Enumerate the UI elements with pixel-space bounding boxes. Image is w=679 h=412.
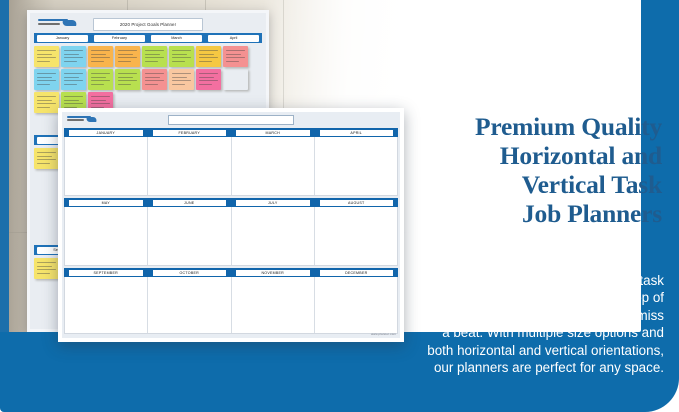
planner-cell[interactable] (315, 207, 397, 265)
planner-month-label: FEBRUARY (148, 130, 232, 136)
planner-month-label: JANUARY (64, 130, 148, 136)
sticky-note (34, 92, 59, 113)
planner-month-label: NOVEMBER (231, 270, 315, 276)
board-month-row-1: January February March April (34, 33, 262, 43)
planner-cell-row-3 (64, 277, 398, 334)
sticky-note (169, 46, 194, 67)
board-title: 2020 Project Goals Planner (93, 18, 203, 31)
sticky-note (115, 46, 140, 67)
sticky-note (34, 258, 59, 279)
planner-cell[interactable] (232, 277, 315, 333)
planner-cell[interactable] (232, 137, 315, 195)
planner-month-label: APRIL (315, 130, 399, 136)
planner-cell[interactable] (148, 277, 231, 333)
planner-month-label: MARCH (231, 130, 315, 136)
body-line: a beat. With multiple size options and (404, 324, 664, 341)
planner-cell[interactable] (232, 207, 315, 265)
planner-month-bar-2: MAY JUNE JULY AUGUST (64, 198, 398, 207)
body-line: both horizontal and vertical orientation… (404, 342, 664, 359)
planner-month-label: JULY (231, 200, 315, 206)
foreground-planner-sheet: JANUARY FEBRUARY MARCH APRIL MAY JUNE (58, 108, 404, 342)
sticky-note (196, 69, 221, 90)
sticky-note-empty (223, 69, 248, 90)
body-line: & Job planners help you stay on top of (404, 289, 664, 306)
sticky-note (115, 69, 140, 90)
sticky-note (169, 69, 194, 90)
planner-cell[interactable] (315, 137, 397, 195)
headline-line: Vertical Task (404, 170, 662, 199)
planner-cell-row-2 (64, 207, 398, 266)
planner-title-input[interactable] (168, 115, 294, 125)
sticky-note-group-1 (34, 46, 262, 113)
planner-cell[interactable] (65, 207, 148, 265)
board-brand-logo (38, 19, 78, 28)
page-title: Premium Quality Horizontal and Vertical … (404, 112, 662, 228)
planner-quarter-block-3: SEPTEMBER OCTOBER NOVEMBER DECEMBER (64, 268, 398, 334)
planner-month-bar-1: JANUARY FEBRUARY MARCH APRIL (64, 128, 398, 137)
planner-cell[interactable] (65, 277, 148, 333)
planner-month-label: DECEMBER (315, 270, 399, 276)
sticky-note (88, 46, 113, 67)
sticky-note (34, 69, 59, 90)
planner-month-label: AUGUST (315, 200, 399, 206)
sticky-note (88, 69, 113, 90)
planner-cell[interactable] (65, 137, 148, 195)
planner-cell-row-1 (64, 137, 398, 196)
promo-banner: 2020 Project Goals Planner January Febru… (0, 0, 679, 412)
body-line: your objectives, ensuring you never miss (404, 307, 664, 324)
headline-line: Job Planners (404, 199, 662, 228)
headline-line: Premium Quality (404, 112, 662, 141)
board-month-label: February (94, 35, 145, 42)
planner-cell[interactable] (315, 277, 397, 333)
planner-cell[interactable] (148, 207, 231, 265)
sticky-note (142, 69, 167, 90)
planner-footer-note: www.planner.com (371, 332, 396, 336)
sticky-note (142, 46, 167, 67)
planner-month-bar-3: SEPTEMBER OCTOBER NOVEMBER DECEMBER (64, 268, 398, 277)
sticky-note (34, 46, 59, 67)
sticky-note (196, 46, 221, 67)
board-month-label: January (37, 35, 88, 42)
planner-quarter-block-2: MAY JUNE JULY AUGUST (64, 198, 398, 266)
sticky-note (61, 69, 86, 90)
headline-line: Horizontal and (404, 141, 662, 170)
planner-month-label: JUNE (148, 200, 232, 206)
planner-brand-logo (67, 116, 97, 124)
board-month-label: April (208, 35, 259, 42)
planner-cell[interactable] (148, 137, 231, 195)
body-line: Our functionally designed erasable task (404, 272, 664, 289)
board-month-label: March (151, 35, 202, 42)
body-copy: Our functionally designed erasable task … (404, 272, 664, 376)
planner-month-label: SEPTEMBER (64, 270, 148, 276)
planner-month-label: MAY (64, 200, 148, 206)
planner-surface: JANUARY FEBRUARY MARCH APRIL MAY JUNE (62, 112, 400, 338)
sticky-note (61, 46, 86, 67)
body-line: our planners are perfect for any space. (404, 359, 664, 376)
left-accent-stripe (0, 0, 9, 332)
planner-month-label: OCTOBER (148, 270, 232, 276)
sticky-note (34, 148, 59, 169)
planner-quarter-block-1: JANUARY FEBRUARY MARCH APRIL (64, 128, 398, 196)
sticky-note (223, 46, 248, 67)
